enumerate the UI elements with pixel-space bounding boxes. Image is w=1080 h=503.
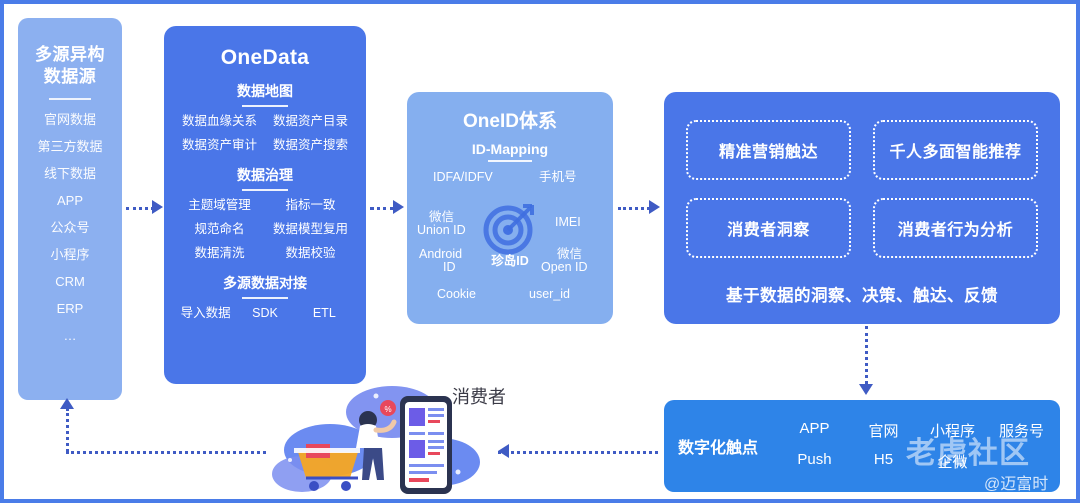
oneid-label-android-id: ID [443, 260, 456, 275]
source-item-2: 线下数据 [18, 160, 122, 187]
touchpoint-push: Push [780, 451, 849, 472]
oneid-label-android: Android [419, 247, 462, 262]
multi-source-title-line1: 多源异构 [18, 44, 122, 66]
onedata-item-1-3: 数据模型复用 [265, 221, 356, 238]
connector-onedata-to-oneid [370, 207, 394, 210]
touchpoints-box: 数字化触点 APP 官网 小程序 服务号 Push H5 企微 [664, 400, 1060, 492]
connector-oneid-to-application [618, 207, 650, 210]
onedata-item-1-2: 规范命名 [174, 221, 265, 238]
application-card-3[interactable]: 消费者行为分析 [873, 198, 1038, 258]
source-item-5: 小程序 [18, 241, 122, 268]
oneid-center-label: 珍岛ID [478, 250, 542, 269]
onedata-item-2-0: 导入数据 [176, 305, 235, 322]
onedata-item-1-5: 数据校验 [265, 245, 356, 262]
connector-application-to-touchpoints [865, 326, 868, 384]
oneid-box: OneID体系 ID-Mapping IDFA/IDFV 手机号 微信 Unio… [407, 92, 613, 324]
source-item-4: 公众号 [18, 214, 122, 241]
consumer-illustration: % [272, 382, 482, 502]
oneid-label-imei: IMEI [555, 215, 581, 230]
onedata-item-1-0: 主题域管理 [174, 197, 265, 214]
touchpoints-grid: APP 官网 小程序 服务号 Push H5 企微 [780, 420, 1060, 472]
onedata-item-2-2: ETL [295, 305, 354, 322]
arrow-touchpoints-to-consumer [498, 444, 509, 458]
source-item-3: APP [18, 187, 122, 214]
onedata-section-1-items: 主题域管理 指标一致 规范命名 数据模型复用 数据清洗 数据校验 [164, 197, 366, 262]
onedata-item-1-1: 指标一致 [265, 197, 356, 214]
application-card-0[interactable]: 精准营销触达 [686, 120, 851, 180]
onedata-section-1-head: 数据治理 [164, 165, 366, 185]
touchpoint-service-account: 服务号 [987, 420, 1056, 441]
application-card-1[interactable]: 千人多面智能推荐 [873, 120, 1038, 180]
oneid-label-open-id: Open ID [541, 260, 588, 275]
onedata-section-2-head: 多源数据对接 [164, 273, 366, 293]
arrow-oneid-to-application [649, 200, 660, 214]
onedata-title: OneData [164, 46, 366, 70]
oneid-rule [488, 160, 532, 162]
onedata-section-0-head: 数据地图 [164, 81, 366, 101]
title-divider [49, 98, 91, 100]
application-card-2[interactable]: 消费者洞察 [686, 198, 851, 258]
touchpoint-qiwei: 企微 [918, 451, 987, 472]
section-rule [242, 189, 288, 191]
svg-text:%: % [384, 405, 391, 414]
connector-source-to-onedata [126, 207, 154, 210]
oneid-label-phone: 手机号 [539, 170, 577, 185]
oneid-subtitle: ID-Mapping [407, 141, 613, 157]
arrow-source-to-onedata [152, 200, 163, 214]
application-cards: 精准营销触达 千人多面智能推荐 消费者洞察 消费者行为分析 [686, 120, 1038, 258]
oneid-label-cookie: Cookie [437, 287, 476, 302]
multi-source-title-line2: 数据源 [18, 66, 122, 88]
section-rule [242, 105, 288, 107]
section-rule [242, 297, 288, 299]
connector-feedback-horizontal [66, 451, 266, 454]
source-item-8: … [18, 322, 122, 349]
onedata-section-0-items: 数据血缘关系 数据资产目录 数据资产审计 数据资产搜索 [164, 113, 366, 154]
shopping-consumer-illustration: % [272, 382, 482, 502]
touchpoint-website: 官网 [849, 420, 918, 441]
oneid-label-union-id: Union ID [417, 223, 466, 238]
arrow-application-to-touchpoints [859, 384, 873, 395]
multi-source-data-box: 多源异构 数据源 官网数据 第三方数据 线下数据 APP 公众号 小程序 CRM… [18, 18, 122, 400]
touchpoint-app: APP [780, 420, 849, 441]
oneid-label-user-id: user_id [529, 287, 570, 302]
onedata-item-0-2: 数据资产审计 [174, 137, 265, 154]
application-caption: 基于数据的洞察、决策、触达、反馈 [686, 282, 1038, 306]
touchpoints-title: 数字化触点 [678, 434, 780, 458]
touchpoint-empty [987, 451, 1056, 472]
connector-touchpoints-to-consumer [498, 451, 658, 454]
touchpoint-miniprogram: 小程序 [918, 420, 987, 441]
source-item-7: ERP [18, 295, 122, 322]
onedata-item-2-1: SDK [235, 305, 294, 322]
connector-feedback-vertical [66, 408, 69, 452]
diagram-canvas: 多源异构 数据源 官网数据 第三方数据 线下数据 APP 公众号 小程序 CRM… [0, 0, 1080, 503]
source-item-0: 官网数据 [18, 106, 122, 133]
onedata-box: OneData 数据地图 数据血缘关系 数据资产目录 数据资产审计 数据资产搜索… [164, 26, 366, 384]
onedata-section-2-items: 导入数据 SDK ETL [164, 305, 366, 322]
arrow-onedata-to-oneid [393, 200, 404, 214]
touchpoint-h5: H5 [849, 451, 918, 472]
arrow-feedback-to-source [60, 398, 74, 409]
oneid-center: 珍岛ID [478, 200, 542, 269]
multi-source-title: 多源异构 数据源 [18, 44, 122, 88]
onedata-item-1-4: 数据清洗 [174, 245, 265, 262]
oneid-label-idfa: IDFA/IDFV [433, 170, 493, 185]
oneid-title: OneID体系 [407, 106, 613, 133]
application-box: 精准营销触达 千人多面智能推荐 消费者洞察 消费者行为分析 基于数据的洞察、决策… [664, 92, 1060, 324]
onedata-item-0-3: 数据资产搜索 [265, 137, 356, 154]
onedata-item-0-1: 数据资产目录 [265, 113, 356, 130]
onedata-item-0-0: 数据血缘关系 [174, 113, 265, 130]
source-item-1: 第三方数据 [18, 133, 122, 160]
source-item-6: CRM [18, 268, 122, 295]
